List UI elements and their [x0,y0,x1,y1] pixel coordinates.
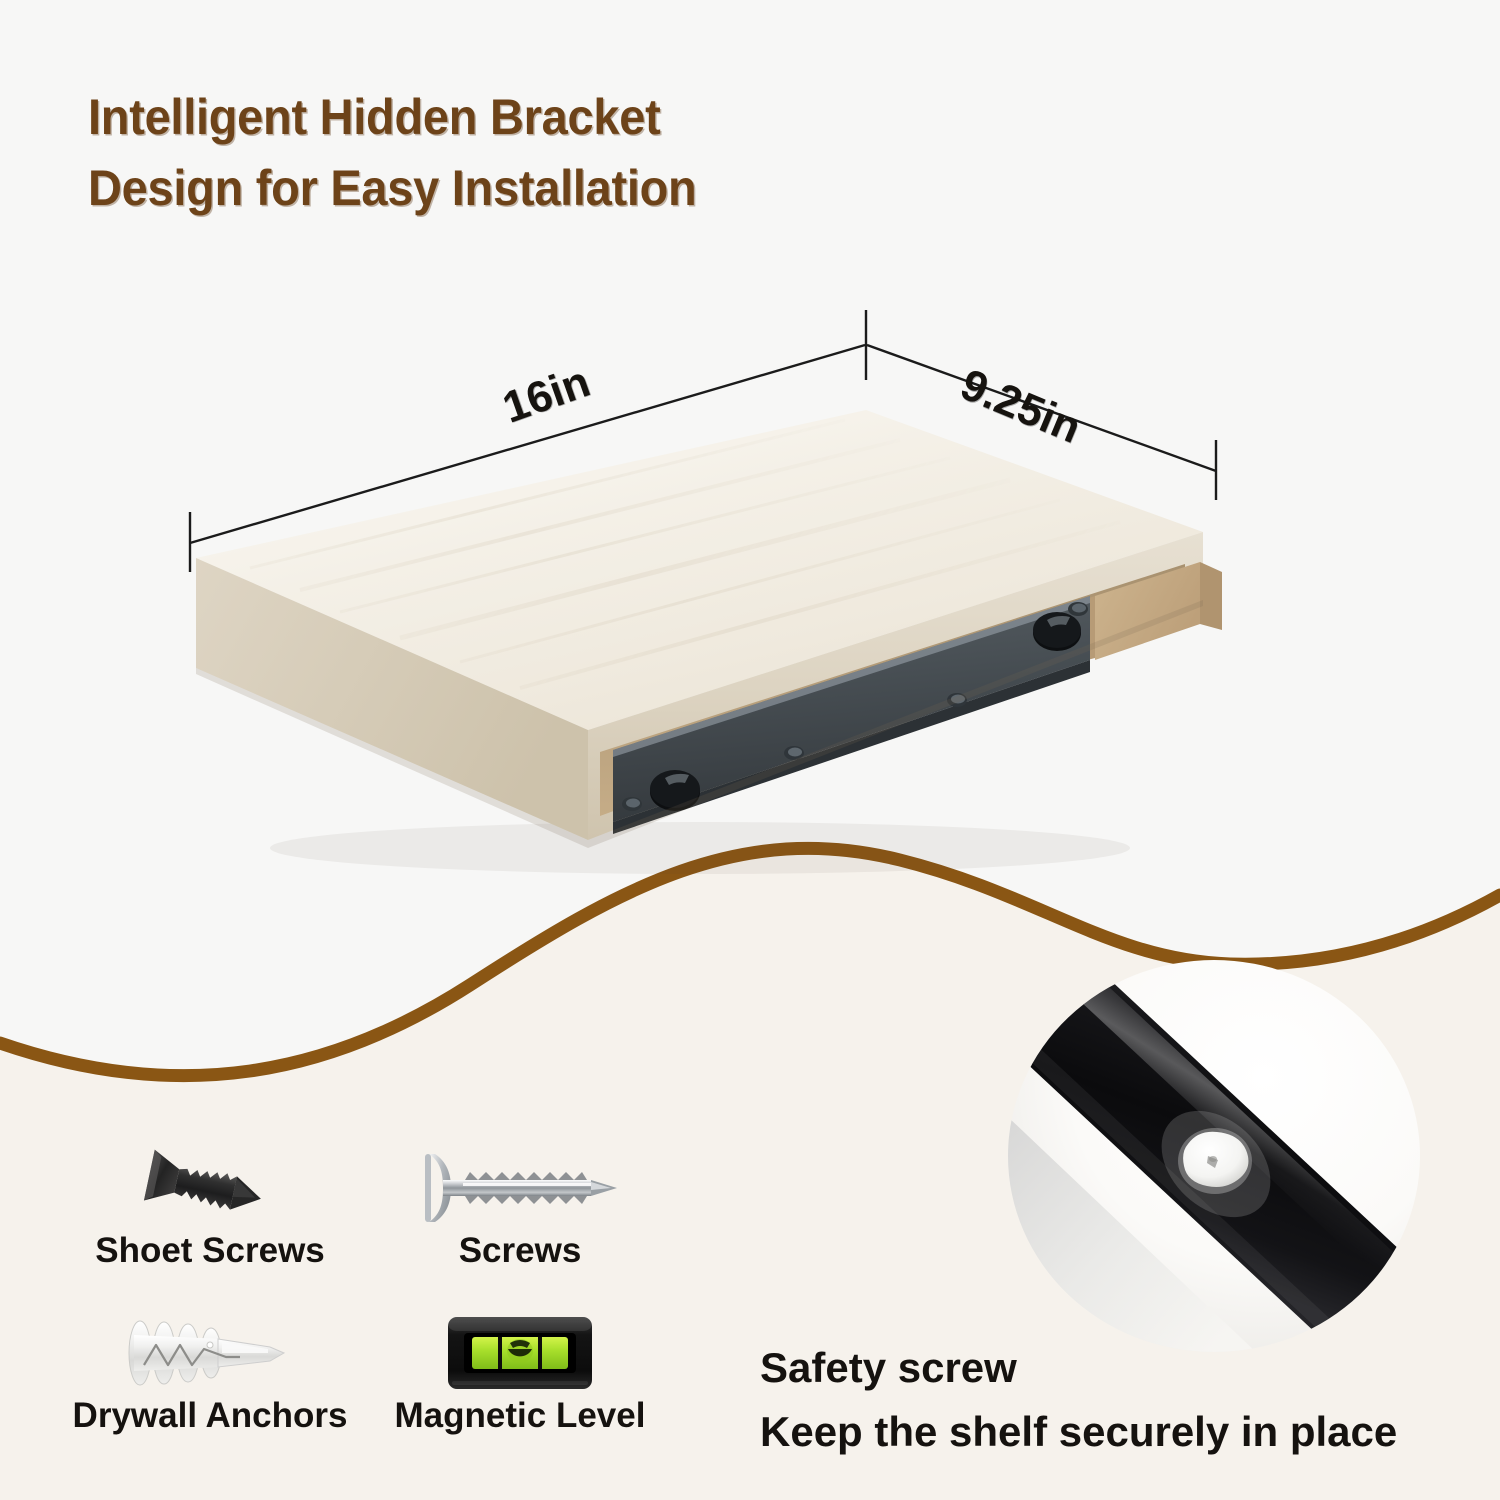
hardware-label: Magnetic Level [365,1396,675,1436]
mdf-end-block-face [1200,562,1222,630]
safety-screw-closeup-photo [1008,958,1420,1354]
screw-shank [463,1180,591,1196]
hardware-item-drywall-anchors[interactable]: Drywall Anchors [55,1300,365,1465]
product-illustration [0,300,1500,920]
silver-washer-head-screw-icon [365,1135,675,1240]
safety-screw-caption: Safety screw Keep the shelf securely in … [760,1336,1397,1464]
screw-thread [173,1163,237,1210]
page-title: Intelligent Hidden Bracket Design for Ea… [88,82,696,224]
hardware-list: Shoet Screws [55,1135,715,1475]
hardware-item-screws[interactable]: Screws [365,1135,675,1300]
shelf-shadow [270,822,1130,874]
hardware-label: Screws [365,1231,675,1271]
infographic-page: Intelligent Hidden Bracket Design for Ea… [0,0,1500,1500]
magnetic-bubble-level-icon [365,1300,675,1405]
hardware-label: Shoet Screws [55,1231,365,1271]
hardware-label: Drywall Anchors [55,1396,365,1436]
hardware-item-magnetic-level[interactable]: Magnetic Level [365,1300,675,1465]
black-bugle-screw-icon [55,1135,365,1240]
level-graduation-right [538,1337,542,1369]
anchor-body [134,1335,222,1371]
level-bubble [507,1339,533,1363]
safety-screw-head [1178,1128,1252,1194]
level-graduation-left [498,1337,502,1369]
drywall-anchor-icon [55,1300,365,1405]
screw-neck [443,1180,465,1196]
hardware-item-shoet-screws[interactable]: Shoet Screws [55,1135,365,1300]
